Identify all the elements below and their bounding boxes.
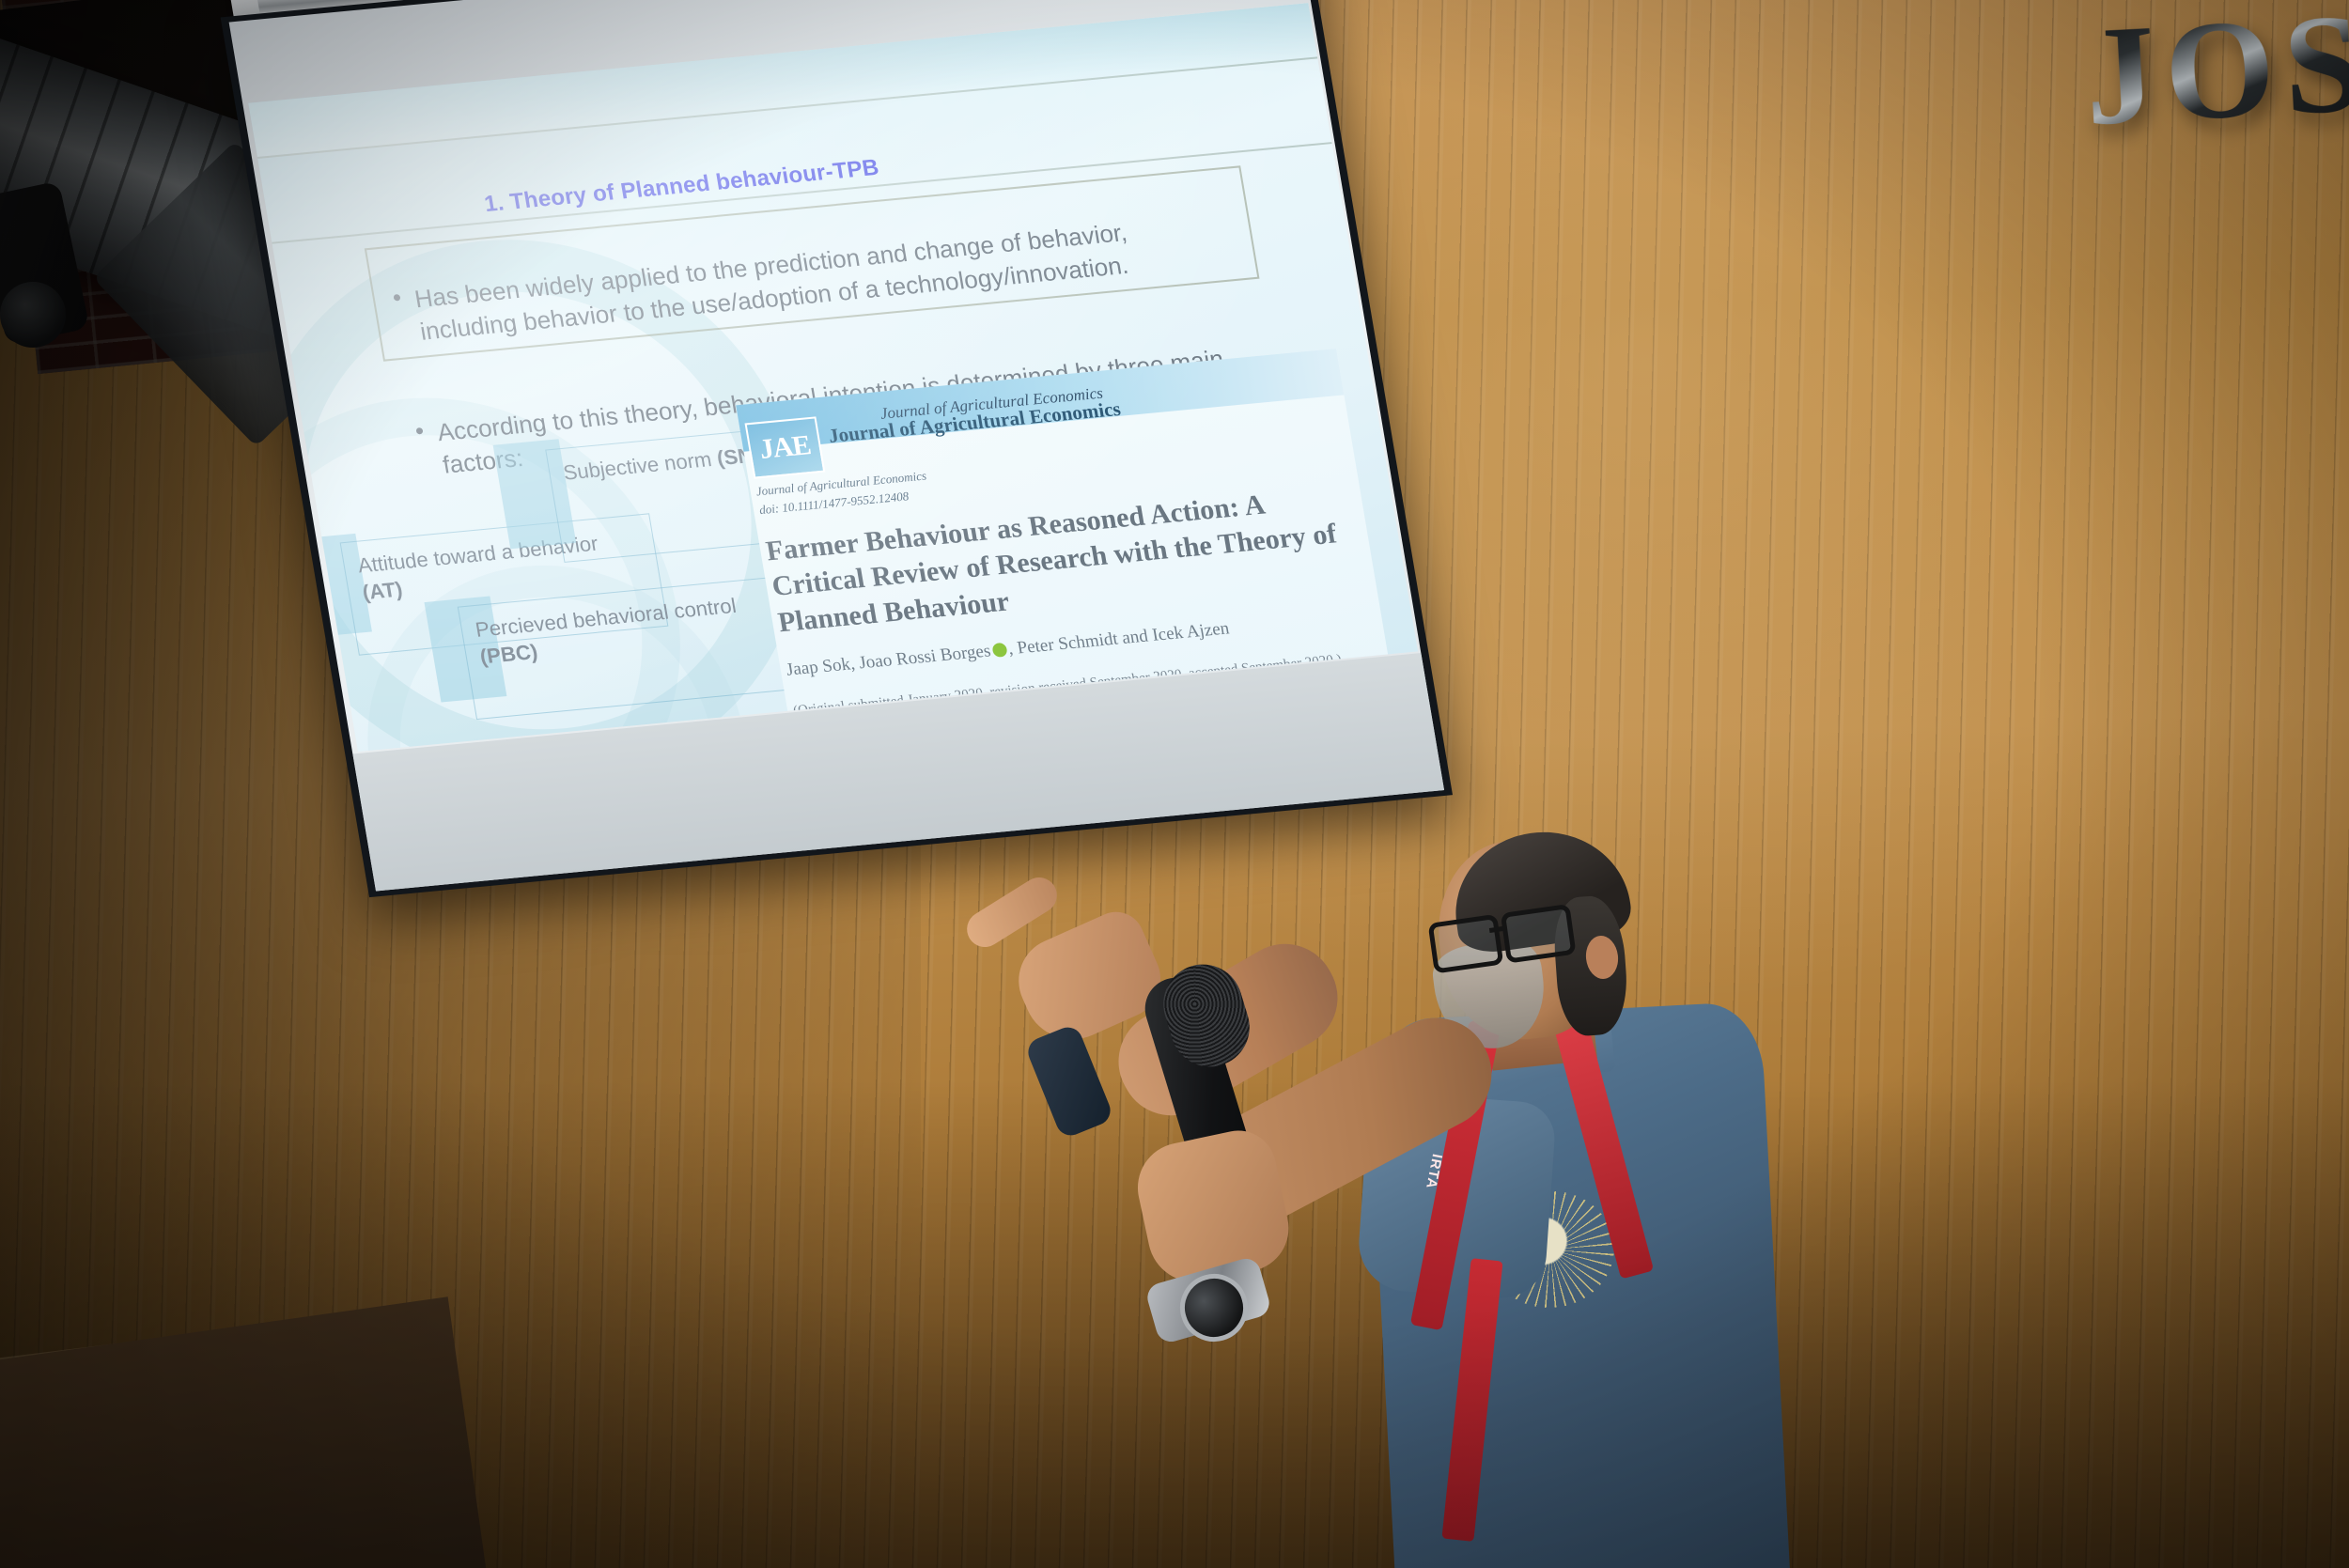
projected-slide: 1. Theory of Planned behaviour-TPB Has b… [248,3,1418,752]
factor-abbr-pbc: (PBC) [478,640,539,668]
jae-logo-icon: JAE [744,416,825,478]
factor-label-pbc: Percieved behavioral control [474,594,738,642]
eyeglass-lens-right [1501,904,1577,964]
projection-screen: 1. Theory of Planned behaviour-TPB Has b… [184,0,1411,908]
presentation-scene: JOS 1. Theory of Planned behaviour-TPB [0,0,2349,1568]
slide-title-band [248,3,1317,159]
orcid-icon[interactable] [991,643,1007,658]
factor-abbr-at: (AT) [361,577,404,604]
paper-authors-post: , Peter Schmidt and Icek Ajzen [1006,618,1230,659]
paper-authors-pre: Jaap Sok, Joao Rossi Borges [785,641,992,679]
screen-surface: 1. Theory of Planned behaviour-TPB Has b… [229,0,1444,891]
factor-label-sn: Subjective norm [562,447,720,485]
presenter: IRTA [1221,846,1804,1568]
venue-sign-letters: JOS [2081,0,2349,158]
eyeglass-lens-left [1428,914,1504,974]
screen-frame: 1. Theory of Planned behaviour-TPB Has b… [221,0,1453,897]
